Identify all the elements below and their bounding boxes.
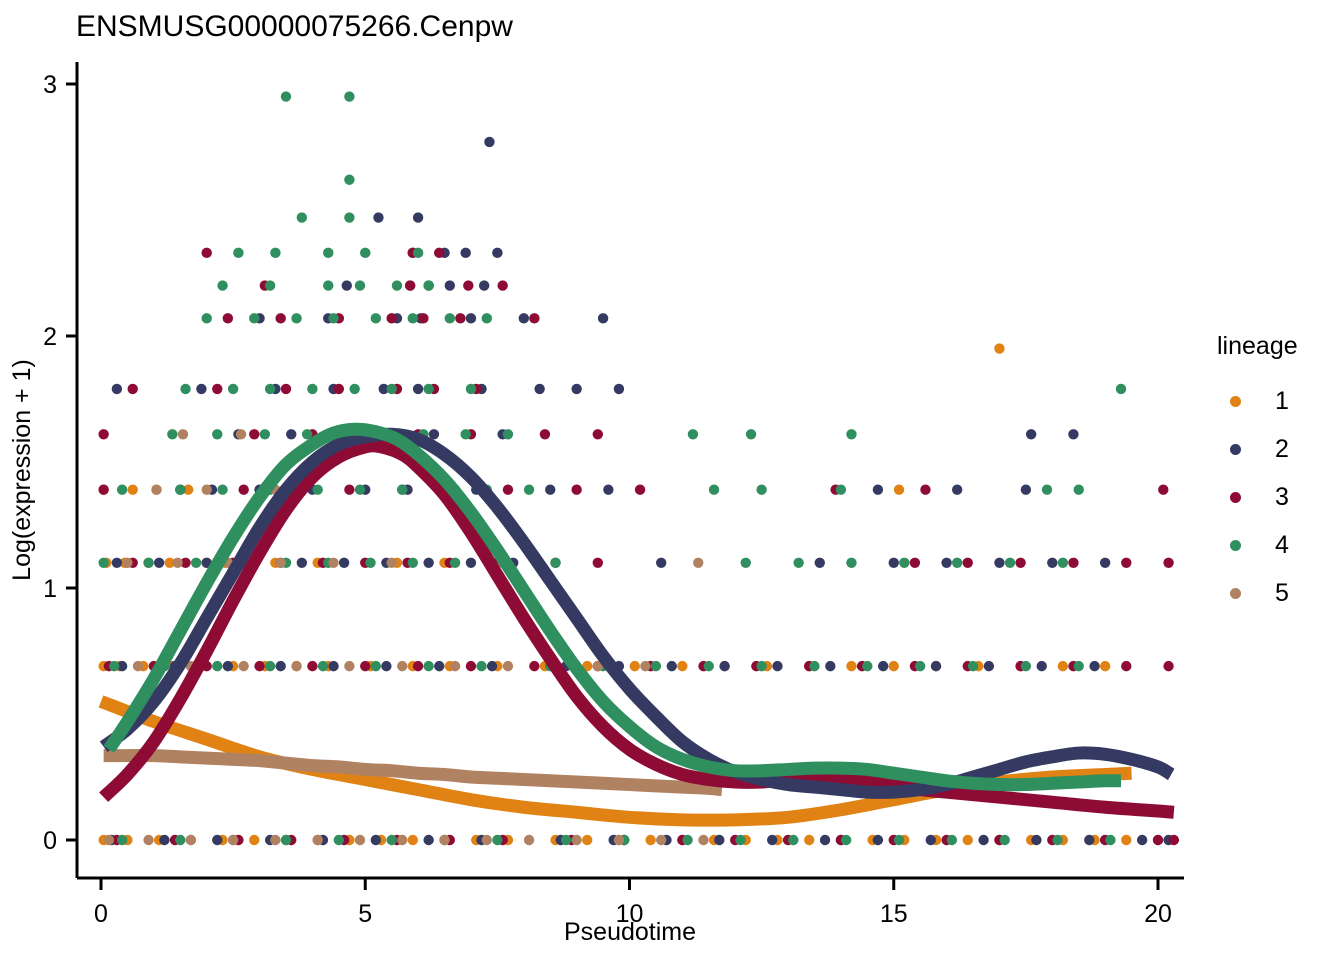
scatter-point <box>463 280 473 290</box>
scatter-point <box>1100 558 1110 568</box>
scatter-point <box>154 558 164 568</box>
x-tick-label-20: 20 <box>1144 900 1172 928</box>
scatter-point <box>281 835 291 845</box>
scatter-point <box>334 835 344 845</box>
scatter-point <box>1068 558 1078 568</box>
scatter-point <box>667 661 677 671</box>
scatter-point <box>640 661 650 671</box>
scatter-point <box>809 661 819 671</box>
scatter-point <box>1116 384 1126 394</box>
legend-swatch-icon <box>1213 540 1257 551</box>
legend-item-2[interactable]: 2 <box>1213 425 1333 473</box>
scatter-point <box>307 384 317 394</box>
x-tick-label-5: 5 <box>358 900 372 928</box>
scatter-point <box>503 429 513 439</box>
scatter-point <box>894 835 904 845</box>
scatter-point <box>355 485 365 495</box>
scatter-point <box>365 558 375 568</box>
scatter-point <box>228 384 238 394</box>
scatter-point <box>841 835 851 845</box>
scatter-point <box>915 661 925 671</box>
scatter-point <box>889 558 899 568</box>
scatter-point <box>238 485 248 495</box>
scatter-point <box>117 485 127 495</box>
scatter-point <box>373 212 383 222</box>
scatter-point <box>238 661 248 671</box>
scatter-point <box>484 137 494 147</box>
scatter-point <box>334 384 344 394</box>
scatter-point <box>98 429 108 439</box>
scatter-point <box>405 280 415 290</box>
scatter-point <box>614 835 624 845</box>
scatter-point <box>342 280 352 290</box>
scatter-point <box>529 661 539 671</box>
scatter-point <box>413 661 423 671</box>
scatter-point <box>1169 835 1179 845</box>
legend-item-5[interactable]: 5 <box>1213 569 1333 617</box>
scatter-point <box>265 384 275 394</box>
scatter-point <box>519 313 529 323</box>
scatter-point <box>1005 558 1015 568</box>
scatter-point <box>360 661 370 671</box>
scatter-point <box>487 661 497 671</box>
scatter-point <box>397 485 407 495</box>
scatter-point <box>151 485 161 495</box>
scatter-point <box>741 558 751 568</box>
scatter-point <box>281 384 291 394</box>
scatter-point <box>846 429 856 439</box>
scatter-point <box>128 384 138 394</box>
scatter-point <box>709 485 719 495</box>
scatter-point <box>756 661 766 671</box>
scatter-point <box>1047 558 1057 568</box>
scatter-point <box>275 558 285 568</box>
legend-item-3[interactable]: 3 <box>1213 473 1333 521</box>
scatter-point <box>598 313 608 323</box>
scatter-point <box>344 661 354 671</box>
scatter-point <box>894 485 904 495</box>
scatter-point <box>1084 835 1094 845</box>
scatter-point <box>719 661 729 671</box>
legend-dot-icon <box>1230 588 1241 599</box>
scatter-point <box>492 248 502 258</box>
scatter-point <box>476 661 486 671</box>
scatter-point <box>270 248 280 258</box>
scatter-point <box>1121 835 1131 845</box>
scatter-point <box>312 835 322 845</box>
x-axis-label: Pseudotime <box>564 918 696 946</box>
scatter-point <box>571 485 581 495</box>
y-axis-label: Log(expression + 1) <box>8 359 36 581</box>
scatter-point <box>788 835 798 845</box>
scatter-point <box>1052 835 1062 845</box>
scatter-point <box>223 661 233 671</box>
scatter-point <box>524 835 534 845</box>
scatter-point <box>889 661 899 671</box>
scatter-point <box>122 558 132 568</box>
scatter-point <box>418 313 428 323</box>
scatter-point <box>286 429 296 439</box>
scatter-point <box>1121 661 1131 671</box>
scatter-point <box>408 313 418 323</box>
scatter-point <box>191 558 201 568</box>
scatter-point <box>408 558 418 568</box>
scatter-point <box>386 384 396 394</box>
scatter-point <box>202 485 212 495</box>
y-tick-label-1: 1 <box>43 575 57 603</box>
scatter-point <box>1163 558 1173 568</box>
scatter-point <box>344 175 354 185</box>
scatter-point <box>249 429 259 439</box>
scatter-point <box>323 248 333 258</box>
scatter-point <box>265 280 275 290</box>
scatter-point <box>202 248 212 258</box>
legend-swatch-icon <box>1213 588 1257 599</box>
scatter-point <box>714 835 724 845</box>
scatter-point <box>804 835 814 845</box>
scatter-point <box>963 835 973 845</box>
scatter-point <box>503 485 513 495</box>
scatter-point <box>439 835 449 845</box>
scatter-point <box>1163 661 1173 671</box>
scatter-point <box>281 91 291 101</box>
scatter-point <box>307 661 317 671</box>
legend-item-label: 5 <box>1275 579 1289 608</box>
scatter-point <box>381 661 391 671</box>
scatter-point <box>397 835 407 845</box>
scatter-point <box>328 661 338 671</box>
legend-item-label: 3 <box>1275 483 1289 512</box>
legend-dot-icon <box>1230 540 1241 551</box>
scatter-point <box>503 661 513 671</box>
scatter-point <box>423 661 433 671</box>
legend-item-label: 1 <box>1275 387 1289 416</box>
scatter-point <box>223 313 233 323</box>
scatter-point <box>1100 661 1110 671</box>
scatter-point <box>455 313 465 323</box>
scatter-point <box>159 835 169 845</box>
scatter-point <box>386 835 396 845</box>
scatter-point <box>323 280 333 290</box>
legend-item-1[interactable]: 1 <box>1213 377 1333 425</box>
scatter-point <box>318 661 328 671</box>
scatter-point <box>344 212 354 222</box>
scatter-point <box>202 313 212 323</box>
scatter-point <box>98 558 108 568</box>
legend-title: lineage <box>1217 332 1333 361</box>
scatter-point <box>1026 429 1036 439</box>
scatter-point <box>360 248 370 258</box>
scatter-point <box>275 313 285 323</box>
legend-items: 12345 <box>1213 377 1333 617</box>
scatter-point <box>275 661 285 671</box>
scatter-point <box>1074 661 1084 671</box>
plot-panel: 0123 05101520 Pseudotime Log(expression … <box>0 0 1344 960</box>
scatter-point <box>645 835 655 845</box>
scatter-point <box>423 384 433 394</box>
scatter-point <box>196 384 206 394</box>
scatter-point <box>344 485 354 495</box>
legend-swatch-icon <box>1213 444 1257 455</box>
scatter-point <box>746 429 756 439</box>
scatter-point <box>910 558 920 568</box>
scatter-point <box>236 429 246 439</box>
scatter-point <box>630 661 640 671</box>
scatter-point <box>233 248 243 258</box>
scatter-point <box>836 485 846 495</box>
scatter-point <box>825 661 835 671</box>
scatter-point <box>1021 661 1031 671</box>
scatter-point <box>175 485 185 495</box>
scatter-point <box>254 661 264 671</box>
scatter-point <box>249 313 259 323</box>
scatter-point <box>1121 558 1131 568</box>
y-tick-label-0: 0 <box>43 827 57 855</box>
scatter-point <box>735 835 745 845</box>
scatter-point <box>460 248 470 258</box>
y-axis-ticks: 0123 <box>43 71 77 855</box>
scatter-point <box>312 485 322 495</box>
scatter-point <box>571 835 581 845</box>
scatter-point <box>392 280 402 290</box>
scatter-point <box>423 280 433 290</box>
scatter-point <box>698 835 708 845</box>
scatter-point <box>656 835 666 845</box>
scatter-point <box>408 835 418 845</box>
scatter-point <box>873 485 883 495</box>
scatter-point <box>862 661 872 671</box>
scatter-point <box>450 558 460 568</box>
scatter-point <box>212 384 222 394</box>
scatter-point <box>651 661 661 671</box>
scatter-point <box>117 835 127 845</box>
scatter-point <box>328 558 338 568</box>
legend-item-4[interactable]: 4 <box>1213 521 1333 569</box>
scatter-point <box>466 384 476 394</box>
scatter-point <box>793 558 803 568</box>
scatter-point <box>479 280 489 290</box>
scatter-point <box>355 280 365 290</box>
scatter-point <box>920 485 930 495</box>
scatter-point <box>355 835 365 845</box>
scatter-point <box>550 558 560 568</box>
scatter-point <box>482 835 492 845</box>
scatter-point <box>635 485 645 495</box>
scatter-point <box>466 313 476 323</box>
scatter-point <box>371 835 381 845</box>
scatter-point <box>178 429 188 439</box>
scatter-point <box>688 429 698 439</box>
scatter-point <box>175 835 185 845</box>
scatter-point <box>217 280 227 290</box>
scatter-point <box>952 485 962 495</box>
scatter-point <box>450 661 460 671</box>
scatter-point <box>1058 558 1068 568</box>
scatter-point <box>677 661 687 671</box>
scatter-point <box>571 384 581 394</box>
scatter-point <box>529 313 539 323</box>
scatter-point <box>952 558 962 568</box>
scatter-point <box>656 558 666 568</box>
legend-swatch-icon <box>1213 492 1257 503</box>
legend: lineage 12345 <box>1213 332 1333 617</box>
scatter-point <box>339 558 349 568</box>
scatter-point <box>133 661 143 671</box>
scatter-point <box>693 558 703 568</box>
scatter-point <box>445 313 455 323</box>
scatter-point <box>534 384 544 394</box>
scatter-point <box>260 429 270 439</box>
scatter-point <box>212 429 222 439</box>
scatter-point <box>1058 661 1068 671</box>
legend-dot-icon <box>1230 492 1241 503</box>
legend-item-label: 4 <box>1275 531 1289 560</box>
scatter-point <box>593 558 603 568</box>
scatter-point <box>109 661 119 671</box>
scatter-point <box>143 835 153 845</box>
scatter-point <box>186 835 196 845</box>
scatter-point <box>143 558 153 568</box>
scatter-point <box>931 661 941 671</box>
scatter-point <box>349 384 359 394</box>
legend-dot-icon <box>1230 444 1241 455</box>
scatter-point <box>497 280 507 290</box>
scatter-point <box>582 835 592 845</box>
scatter-point <box>112 384 122 394</box>
scatter-point <box>386 313 396 323</box>
x-tick-label-15: 15 <box>880 900 908 928</box>
scatter-point <box>963 558 973 568</box>
scatter-point <box>212 835 222 845</box>
scatter-point <box>873 835 883 845</box>
scatter-point <box>460 429 470 439</box>
scatter-point <box>704 661 714 671</box>
scatter-point <box>172 558 182 568</box>
scatter-point <box>371 661 381 671</box>
scatter-point <box>1042 485 1052 495</box>
scatter-point <box>1137 835 1147 845</box>
scatter-point <box>994 343 1004 353</box>
scatter-point <box>423 835 433 845</box>
scatter-point <box>413 384 423 394</box>
scatter-point <box>265 661 275 671</box>
scatter-point <box>540 429 550 439</box>
scatter-point <box>603 485 613 495</box>
scatter-point <box>682 835 692 845</box>
scatter-point <box>167 429 177 439</box>
scatter-point <box>413 212 423 222</box>
scatter-point <box>1105 835 1115 845</box>
scatter-point <box>445 280 455 290</box>
scatter-point <box>297 212 307 222</box>
scatter-point <box>212 661 222 671</box>
scatter-point <box>270 835 280 845</box>
scatter-point <box>756 485 766 495</box>
scatter-point <box>482 313 492 323</box>
plot-root: ENSMUSG00000075266.Cenpw 0123 05101520 P… <box>0 0 1344 960</box>
scatter-point <box>815 558 825 568</box>
scatter-point <box>291 661 301 671</box>
scatter-point <box>397 661 407 671</box>
scatter-point <box>423 558 433 568</box>
scatter-point <box>968 661 978 671</box>
scatter-point <box>846 558 856 568</box>
scatter-point <box>249 835 259 845</box>
scatter-point <box>112 558 122 568</box>
scatter-point <box>614 384 624 394</box>
scatter-point <box>926 835 936 845</box>
scatter-point <box>98 485 108 495</box>
scatter-point <box>1089 661 1099 671</box>
scatter-point <box>328 313 338 323</box>
scatter-point <box>984 661 994 671</box>
scatter-point <box>1153 835 1163 845</box>
scatter-point <box>128 485 138 495</box>
scatter-point <box>466 661 476 671</box>
scatter-point <box>772 661 782 671</box>
scatter-point <box>434 248 444 258</box>
scatter-point <box>297 558 307 568</box>
scatter-point <box>524 485 534 495</box>
scatter-point <box>561 835 571 845</box>
y-tick-label-2: 2 <box>43 323 57 351</box>
scatter-point <box>978 835 988 845</box>
scatter-point <box>947 835 957 845</box>
scatter-point <box>545 485 555 495</box>
scatter-point <box>228 835 238 845</box>
scatter-point <box>1000 835 1010 845</box>
scatter-point <box>994 558 1004 568</box>
scatter-point <box>820 835 830 845</box>
scatter-point <box>846 661 856 671</box>
scatter-point <box>180 384 190 394</box>
scatter-point <box>217 485 227 495</box>
scatter-point <box>386 558 396 568</box>
scatter-point <box>878 661 888 671</box>
scatter-point <box>466 558 476 568</box>
scatter-point <box>434 661 444 671</box>
legend-dot-icon <box>1230 396 1241 407</box>
scatter-point <box>1158 485 1168 495</box>
scatter-point <box>413 248 423 258</box>
y-tick-label-3: 3 <box>43 71 57 99</box>
scatter-point <box>593 429 603 439</box>
scatter-point <box>1021 485 1031 495</box>
scatter-point <box>941 558 951 568</box>
scatter-point <box>492 835 502 845</box>
x-tick-label-0: 0 <box>94 900 108 928</box>
scatter-point <box>899 558 909 568</box>
scatter-point <box>1068 429 1078 439</box>
scatter-point <box>1015 558 1025 568</box>
legend-item-label: 2 <box>1275 435 1289 464</box>
scatter-point <box>344 91 354 101</box>
scatter-point <box>1037 661 1047 671</box>
scatter-point <box>1074 485 1084 495</box>
scatter-point <box>291 313 301 323</box>
legend-swatch-icon <box>1213 396 1257 407</box>
scatter-point <box>1031 835 1041 845</box>
scatter-point <box>767 835 777 845</box>
scatter-point <box>104 835 114 845</box>
scatter-point <box>371 313 381 323</box>
